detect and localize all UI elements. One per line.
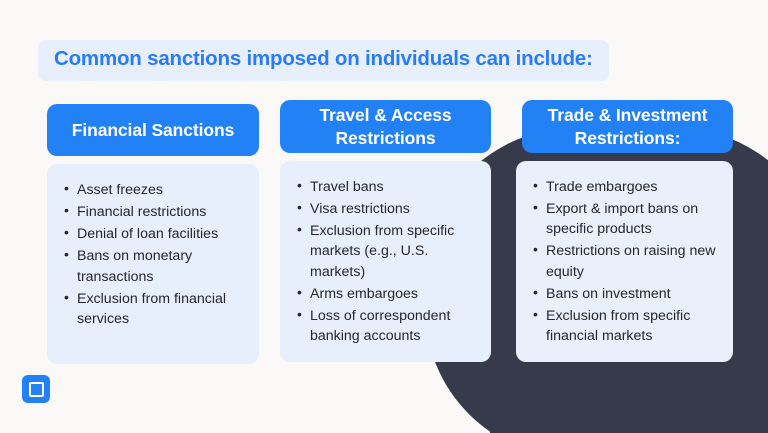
card-header-travel-access-restrictions: Travel & Access Restrictions <box>280 100 491 153</box>
list-financial-sanctions: Asset freezes Financial restrictions Den… <box>63 180 247 329</box>
list-item: Exclusion from specific markets (e.g., U… <box>296 221 479 281</box>
list-travel-access-restrictions: Travel bans Visa restrictions Exclusion … <box>296 177 479 346</box>
card-body-travel-access-restrictions: Travel bans Visa restrictions Exclusion … <box>280 161 491 362</box>
card-trade-investment-restrictions: Trade & Investment Restrictions: Trade e… <box>516 100 733 362</box>
list-item: Denial of loan facilities <box>63 224 247 244</box>
list-item: Exclusion from financial services <box>63 289 247 329</box>
page-title-banner: Common sanctions imposed on individuals … <box>38 40 609 81</box>
logo-ring-shape <box>29 382 44 397</box>
nested-square-logo-icon <box>22 375 50 403</box>
list-item: Loss of correspondent banking accounts <box>296 306 479 346</box>
card-financial-sanctions: Financial Sanctions Asset freezes Financ… <box>47 104 259 364</box>
card-travel-access-restrictions: Travel & Access Restrictions Travel bans… <box>280 100 491 362</box>
list-item: Bans on monetary transactions <box>63 246 247 286</box>
card-body-trade-investment-restrictions: Trade embargoes Export & import bans on … <box>516 161 733 362</box>
card-header-financial-sanctions: Financial Sanctions <box>47 104 259 156</box>
list-item: Travel bans <box>296 177 479 197</box>
list-item: Bans on investment <box>532 284 721 304</box>
logo-center-dot <box>34 387 38 391</box>
infographic-canvas: Common sanctions imposed on individuals … <box>0 0 768 433</box>
list-trade-investment-restrictions: Trade embargoes Export & import bans on … <box>532 177 721 346</box>
page-title: Common sanctions imposed on individuals … <box>54 47 593 72</box>
card-body-financial-sanctions: Asset freezes Financial restrictions Den… <box>47 164 259 364</box>
list-item: Financial restrictions <box>63 202 247 222</box>
list-item: Exclusion from specific financial market… <box>532 306 721 346</box>
list-item: Visa restrictions <box>296 199 479 219</box>
list-item: Export & import bans on specific product… <box>532 199 721 239</box>
list-item: Arms embargoes <box>296 284 479 304</box>
list-item: Restrictions on raising new equity <box>532 241 721 281</box>
card-header-trade-investment-restrictions: Trade & Investment Restrictions: <box>522 100 733 153</box>
list-item: Asset freezes <box>63 180 247 200</box>
list-item: Trade embargoes <box>532 177 721 197</box>
